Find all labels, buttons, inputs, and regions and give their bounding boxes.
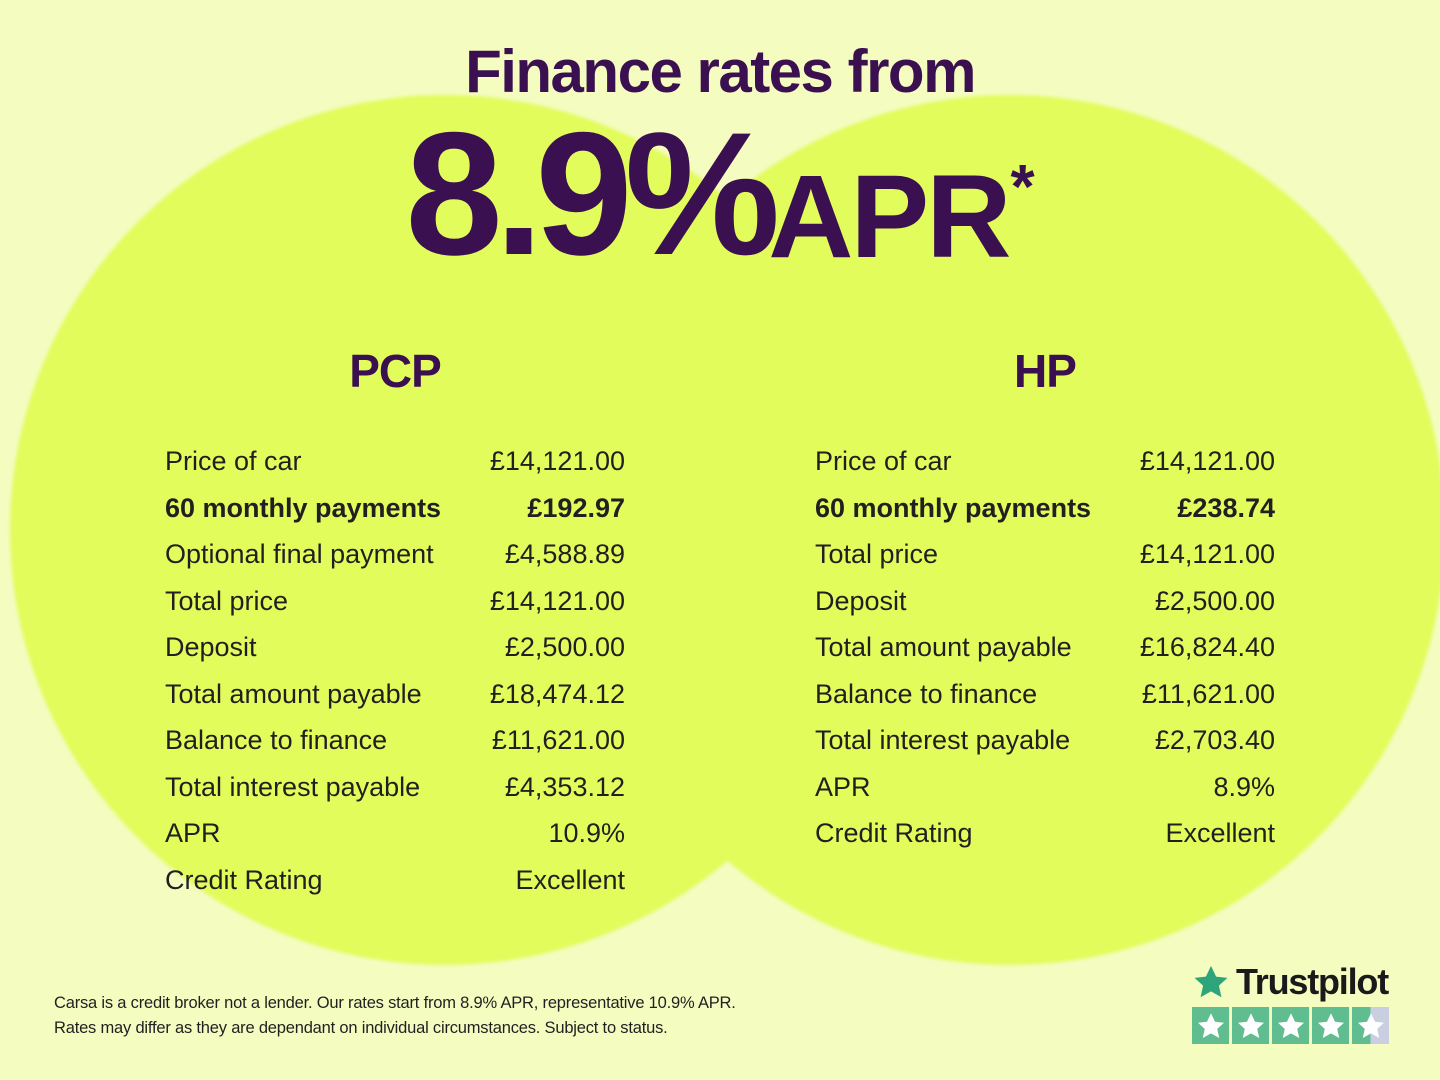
table-row: Credit Rating Excellent [815, 810, 1275, 857]
table-row: Total amount payable £18,474.12 [165, 671, 625, 718]
row-label: Total price [815, 537, 938, 572]
table-row: Price of car £14,121.00 [815, 438, 1275, 485]
plan-hp-rows: Price of car £14,121.00 60 monthly payme… [795, 438, 1295, 857]
plan-pcp-rows: Price of car £14,121.00 60 monthly payme… [145, 438, 645, 903]
headline-rate-value: 8.9% [405, 107, 772, 282]
footer: Carsa is a credit broker not a lender. O… [0, 920, 1440, 1080]
row-value: £11,621.00 [1142, 677, 1275, 712]
headline-rate-row: 8.9% APR * [0, 107, 1440, 282]
trustpilot-wordmark-text: Trustpilot [1236, 964, 1388, 1000]
table-row: Total price £14,121.00 [815, 531, 1275, 578]
legal-disclaimer: Carsa is a credit broker not a lender. O… [54, 991, 736, 1042]
row-label: Optional final payment [165, 537, 434, 572]
row-value: £2,500.00 [1155, 584, 1275, 619]
row-label: APR [165, 816, 221, 851]
row-value: £4,353.12 [505, 770, 625, 805]
row-value: £14,121.00 [1140, 444, 1275, 479]
row-label: Price of car [815, 444, 952, 479]
table-row: APR 8.9% [815, 764, 1275, 811]
header: Finance rates from 8.9% APR * [0, 0, 1440, 282]
rating-star-icon [1272, 1007, 1309, 1044]
row-value: £2,500.00 [505, 630, 625, 665]
table-row: Total interest payable £2,703.40 [815, 717, 1275, 764]
row-value: 8.9% [1213, 770, 1275, 805]
table-row: Balance to finance £11,621.00 [815, 671, 1275, 718]
row-value: £14,121.00 [490, 584, 625, 619]
row-label: Deposit [815, 584, 907, 619]
row-label: 60 monthly payments [165, 491, 441, 526]
row-label: 60 monthly payments [815, 491, 1091, 526]
table-row: Deposit £2,500.00 [165, 624, 625, 671]
trustpilot-star-icon [1192, 963, 1230, 1001]
finance-rates-poster: Finance rates from 8.9% APR * PCP Price … [0, 0, 1440, 1080]
rating-star-half-icon [1352, 1007, 1389, 1044]
row-label: Total price [165, 584, 288, 619]
plan-pcp-title: PCP [145, 344, 645, 398]
disclaimer-line-2: Rates may differ as they are dependant o… [54, 1016, 736, 1042]
row-label: Total interest payable [165, 770, 420, 805]
trustpilot-star-rating [1192, 1007, 1392, 1044]
row-value: £14,121.00 [490, 444, 625, 479]
table-row: Total amount payable £16,824.40 [815, 624, 1275, 671]
rating-star-icon [1192, 1007, 1229, 1044]
row-value: Excellent [1165, 816, 1275, 851]
trustpilot-rating: Trustpilot [1192, 963, 1392, 1044]
row-label: Balance to finance [165, 723, 387, 758]
row-label: Credit Rating [165, 863, 323, 898]
row-label: Total amount payable [815, 630, 1072, 665]
row-value: £18,474.12 [490, 677, 625, 712]
rating-star-icon [1232, 1007, 1269, 1044]
disclaimer-line-1: Carsa is a credit broker not a lender. O… [54, 991, 736, 1017]
row-label: Balance to finance [815, 677, 1037, 712]
headline-apr-label: APR [768, 158, 1008, 276]
row-value: Excellent [515, 863, 625, 898]
row-label: Price of car [165, 444, 302, 479]
finance-plan-comparison: PCP Price of car £14,121.00 60 monthly p… [0, 344, 1440, 903]
row-value: £2,703.40 [1155, 723, 1275, 758]
table-row: APR 10.9% [165, 810, 625, 857]
row-value: £192.97 [527, 491, 625, 526]
row-label: Total amount payable [165, 677, 422, 712]
row-label: Total interest payable [815, 723, 1070, 758]
headline-asterisk: * [1010, 157, 1034, 219]
table-row: Balance to finance £11,621.00 [165, 717, 625, 764]
trustpilot-wordmark: Trustpilot [1192, 963, 1392, 1001]
table-row: Price of car £14,121.00 [165, 438, 625, 485]
headline-eyebrow: Finance rates from [0, 40, 1440, 103]
row-label: Deposit [165, 630, 257, 665]
row-value: £16,824.40 [1140, 630, 1275, 665]
row-label: APR [815, 770, 871, 805]
row-value: £11,621.00 [492, 723, 625, 758]
row-value: 10.9% [548, 816, 625, 851]
row-value: £4,588.89 [505, 537, 625, 572]
table-row: Credit Rating Excellent [165, 857, 625, 904]
table-row: Deposit £2,500.00 [815, 578, 1275, 625]
plan-pcp: PCP Price of car £14,121.00 60 monthly p… [145, 344, 645, 903]
table-row: Optional final payment £4,588.89 [165, 531, 625, 578]
table-row: 60 monthly payments £192.97 [165, 485, 625, 532]
row-value: £238.74 [1177, 491, 1275, 526]
rating-star-icon [1312, 1007, 1349, 1044]
table-row: 60 monthly payments £238.74 [815, 485, 1275, 532]
plan-hp-title: HP [795, 344, 1295, 398]
plan-hp: HP Price of car £14,121.00 60 monthly pa… [795, 344, 1295, 903]
row-label: Credit Rating [815, 816, 973, 851]
table-row: Total interest payable £4,353.12 [165, 764, 625, 811]
row-value: £14,121.00 [1140, 537, 1275, 572]
table-row: Total price £14,121.00 [165, 578, 625, 625]
